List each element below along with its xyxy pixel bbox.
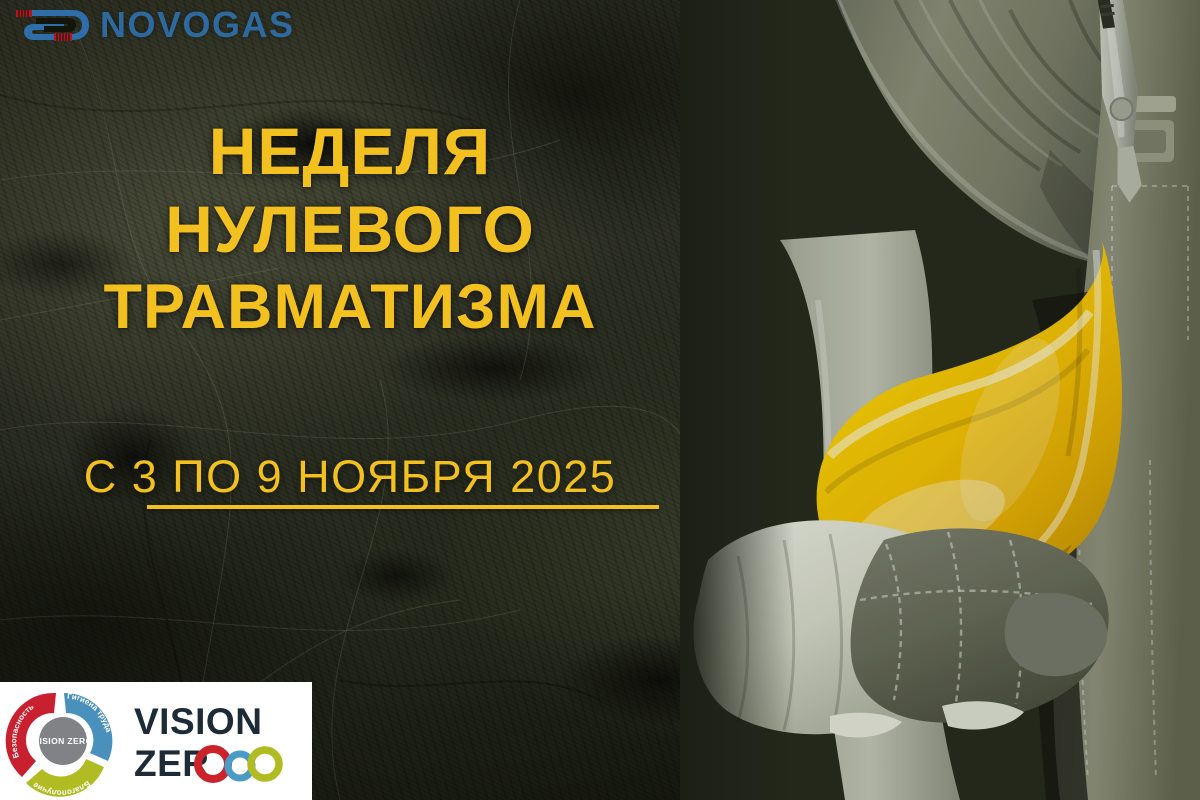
worker-photo — [680, 0, 1200, 800]
date-range: С 3 ПО 9 НОЯБРЯ 2025 — [0, 452, 700, 502]
date-range-underline — [147, 505, 659, 509]
headline-line-3: ТРАВМАТИЗМА — [0, 268, 700, 346]
headline-line-1: НЕДЕЛЯ — [0, 112, 700, 190]
poster-headline: НЕДЕЛЯ НУЛЕВОГО ТРАВМАТИЗМА — [0, 112, 700, 346]
date-range-text: С 3 ПО 9 НОЯБРЯ 2025 — [84, 452, 617, 502]
vision-zero-wheel-icon: VISION ZERO Безопасность Гигиена труда Б… — [4, 685, 122, 797]
novogas-logo[interactable]: NOVOGAS — [14, 4, 295, 46]
safety-week-poster: NOVOGAS НЕДЕЛЯ НУЛЕВОГО ТРАВМАТИЗМА С 3 … — [0, 0, 1200, 800]
wheel-center-label: VISION ZERO — [33, 736, 92, 746]
vision-zero-wordmark: VISION ZER — [132, 698, 304, 784]
novogas-spiral-mark-icon — [14, 4, 92, 46]
vision-zero-badge[interactable]: VISION ZERO Безопасность Гигиена труда Б… — [0, 682, 312, 800]
wordmark-line-1: VISION — [134, 701, 262, 742]
headline-line-2: НУЛЕВОГО — [0, 190, 700, 268]
novogas-wordmark: NOVOGAS — [100, 7, 295, 43]
